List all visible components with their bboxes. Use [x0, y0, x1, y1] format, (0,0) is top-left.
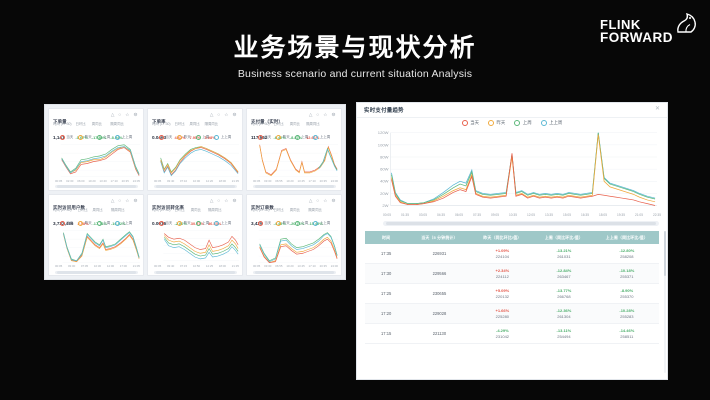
- detail-chart: 120W100W 80W60W 40W20W 2W: [365, 129, 659, 213]
- legend-dot-icon: [541, 120, 547, 126]
- table-row[interactable]: 17:35 226931 +1.09%224104 -13.21%261031 …: [365, 244, 659, 264]
- legend-item: 当天: [258, 221, 272, 226]
- legend-dot-icon: [214, 221, 219, 226]
- cell-yesterday: +1.09%224104: [472, 244, 534, 264]
- legend-item: 上上周: [313, 135, 330, 140]
- x-tick: 00:05: [55, 264, 62, 269]
- x-tick: 10:50: [193, 264, 200, 269]
- legend-label: 当天: [470, 120, 479, 126]
- table-row[interactable]: 17:20 229028 +1.66%225280 -12.36%261304 …: [365, 304, 659, 324]
- legend-dot-icon: [60, 221, 65, 226]
- kpi-metric-label: 日环比: [174, 122, 185, 126]
- legend-label: 上周: [202, 221, 209, 226]
- legend-dot-icon: [295, 221, 300, 226]
- logo-line-2: FORWARD: [600, 31, 673, 44]
- cell-today: 230655: [407, 284, 471, 304]
- x-tick: 06:05: [455, 213, 463, 219]
- kpi-metric: 隔周同比 36.53%: [208, 208, 222, 216]
- kpi-metric: 日环比 -2.86%: [174, 208, 186, 216]
- x-tick: 06:55: [275, 264, 282, 269]
- chart-scrollbar[interactable]: [154, 185, 237, 188]
- legend-label: 昨天: [283, 221, 290, 226]
- kpi-metric: 日环比 2.18%: [77, 208, 88, 216]
- legend-label: 上周: [103, 135, 110, 140]
- kpi-time-label: 时间 (17:30): [53, 122, 71, 126]
- card-x-axis: 00:05 03:30 06:55 10:20 13:45 17:10 20:3…: [253, 179, 338, 184]
- x-tick: 19:35: [617, 213, 625, 219]
- kpi-row: 时间 (17:30) 0.0463 日环比 4.62% 周同比 7.95% 隔周…: [152, 122, 238, 130]
- table-row[interactable]: 17:15 221130 -4.29%231042 -13.11%254494 …: [365, 324, 659, 344]
- card-header: 实时访问用户数 △ ○ ☆ ⚙: [53, 198, 139, 207]
- x-tick: 03:30: [264, 264, 271, 269]
- card-action-icons[interactable]: △ ○ ☆ ⚙: [210, 112, 238, 118]
- x-tick: 12:05: [527, 213, 535, 219]
- kpi-metric-label: 日环比: [77, 208, 88, 212]
- legend-item[interactable]: 上上周: [541, 120, 563, 126]
- legend-dot-icon: [258, 135, 263, 140]
- kpi-metric-label: 隔周同比: [208, 208, 222, 212]
- x-tick: 17:00: [120, 264, 127, 269]
- x-tick: 00:05: [253, 264, 260, 269]
- kpi-metric-label: 周同比: [290, 208, 305, 212]
- kpi-time-label: 时间 (17:30): [53, 208, 73, 212]
- cell-num: 261304: [535, 314, 593, 320]
- x-tick: 01:35: [401, 213, 409, 219]
- kpi-card-grid: 下单量 △ ○ ☆ ⚙ 时间 (17:30) 1,141 日环比 -0.67% …: [44, 104, 346, 280]
- legend-dot-icon: [313, 221, 318, 226]
- cell-num: 254494: [535, 334, 593, 340]
- legend-dot-icon: [97, 135, 102, 140]
- cell-yesterday: +1.66%225280: [472, 304, 534, 324]
- x-tick: 21:35: [232, 264, 239, 269]
- kpi-metric-label: 日环比: [75, 122, 87, 126]
- card-chart: [151, 141, 239, 179]
- col-today: 当天（5 分钟统计）: [407, 231, 471, 244]
- legend-item: 上周: [97, 221, 111, 226]
- x-tick: 21:05: [133, 264, 140, 269]
- card-header: 支付量（实时） △ ○ ☆ ⚙: [251, 112, 337, 121]
- card-legend: 当天 昨天 上周 上上周: [49, 134, 143, 141]
- card-header: 下单率 △ ○ ☆ ⚙: [152, 112, 238, 121]
- legend-label: 昨天: [184, 135, 191, 140]
- cell-time: 17:35: [365, 244, 407, 264]
- card-header: 实时访问转化率 △ ○ ☆ ⚙: [152, 198, 238, 207]
- x-tick: 13:35: [545, 213, 553, 219]
- x-tick: 00:05: [55, 179, 62, 184]
- kpi-card[interactable]: 实时订单数 △ ○ ☆ ⚙ 时间 (17:30) 3,429 日环比 -4.48…: [246, 194, 342, 277]
- col-lastweek: 上周（同比环比/值）: [533, 231, 595, 244]
- card-chart: [250, 227, 338, 265]
- legend-item: 上周: [97, 135, 111, 140]
- cell-num: 231042: [474, 334, 532, 340]
- kpi-metric-label: 日环比: [273, 122, 285, 126]
- x-tick: 17:10: [309, 179, 316, 184]
- card-x-axis: 00:05 03:30 06:55 10:20 13:45 17:10 20:3…: [253, 264, 338, 269]
- kpi-primary: 时间 (17:30) 0.0016: [152, 208, 170, 216]
- card-x-axis: 00:05 03:00 07:05 10:30 14:00 17:00 21:0…: [55, 264, 140, 269]
- cell-num: 258208: [597, 254, 657, 260]
- card-legend: 当天 昨天 上周 上上周: [148, 134, 242, 141]
- kpi-metric: 日环比 -0.67%: [75, 122, 87, 130]
- kpi-metric: 周同比 -17.80%: [92, 122, 107, 130]
- kpi-card[interactable]: 实时访问用户数 △ ○ ☆ ⚙ 时间 (17:30) 3,732,486 日环比…: [48, 194, 144, 277]
- kpi-metric-label: 周同比: [190, 122, 201, 126]
- legend-dot-icon: [462, 120, 468, 126]
- cell-time: 17:25: [365, 284, 407, 304]
- legend-label: 当天: [66, 135, 73, 140]
- cell-today: 229028: [407, 304, 471, 324]
- cell-num: 225280: [474, 314, 532, 320]
- card-chart: [52, 227, 140, 265]
- cell-num: 266768: [535, 294, 593, 300]
- kpi-metric-label: 隔周同比: [205, 122, 219, 126]
- legend-label: 当天: [264, 221, 271, 226]
- legend-label: 昨天: [184, 221, 191, 226]
- x-tick: 21:05: [635, 213, 643, 219]
- legend-dot-icon: [258, 221, 263, 226]
- legend-item: 上上周: [115, 135, 132, 140]
- card-legend: 当天 昨天 上周 上上周: [49, 220, 143, 227]
- x-tick: 07:15: [180, 264, 187, 269]
- kpi-card[interactable]: 实时访问转化率 △ ○ ☆ ⚙ 时间 (17:30) 0.0016 日环比 -2…: [147, 194, 243, 277]
- card-action-icons[interactable]: △ ○ ☆ ⚙: [309, 198, 337, 204]
- card-header: 下单量 △ ○ ☆ ⚙: [53, 112, 139, 121]
- squirrel-icon: [672, 12, 698, 36]
- cell-twoweeks: -14.46%258511: [595, 324, 659, 344]
- kpi-time-label: 时间 (17:30): [152, 122, 170, 126]
- x-tick: 24:05: [133, 179, 140, 184]
- legend-dot-icon: [196, 221, 201, 226]
- cell-today: 229566: [407, 264, 471, 284]
- x-tick: 00:05: [154, 264, 161, 269]
- legend-item: 昨天: [78, 221, 92, 226]
- cell-yesterday: -4.29%231042: [472, 324, 534, 344]
- x-tick: 03:40: [167, 264, 174, 269]
- cell-time: 17:20: [365, 304, 407, 324]
- legend-item[interactable]: 当天: [462, 120, 479, 126]
- cell-lastweek: -12.84%263467: [533, 264, 595, 284]
- kpi-primary: 时间 (17:30) 1,141: [53, 122, 71, 130]
- legend-label: 昨天: [85, 221, 92, 226]
- legend-label: 上上周: [320, 135, 331, 140]
- col-yesterday: 昨天（同比环比/值）: [472, 231, 534, 244]
- legend-item: 上周: [196, 135, 210, 140]
- cell-num: 261031: [535, 254, 593, 260]
- kpi-metric: 日环比 -6.42%: [273, 122, 285, 130]
- card-legend: 当天 昨天 上周 上上周: [247, 134, 341, 141]
- cell-num: 255283: [597, 314, 657, 320]
- detail-panel: 实时支付量趋势 ✕ 当天 昨天 上周 上上周 120W100W 80W60W 4: [356, 102, 668, 380]
- cell-twoweeks: -12.80%258208: [595, 244, 659, 264]
- legend-item: 当天: [60, 135, 74, 140]
- legend-dot-icon: [78, 221, 83, 226]
- legend-item: 当天: [258, 135, 272, 140]
- table-row[interactable]: 17:25 230655 +5.09%220132 -13.77%266768 …: [365, 284, 659, 304]
- legend-label: 当天: [165, 135, 172, 140]
- x-tick: 03:30: [264, 179, 271, 184]
- x-tick: 10:20: [286, 179, 293, 184]
- cell-num: 224112: [474, 274, 532, 280]
- x-tick: 00:05: [383, 213, 391, 219]
- legend-item: 昨天: [276, 135, 290, 140]
- kpi-primary: 时间 (17:30) 117,662: [251, 122, 269, 130]
- detail-chart-scrollbar[interactable]: [383, 221, 659, 226]
- x-tick: 20:35: [122, 179, 129, 184]
- legend-dot-icon: [276, 135, 281, 140]
- legend-label: 上周: [301, 135, 308, 140]
- cell-lastweek: -13.77%266768: [533, 284, 595, 304]
- cell-today: 226931: [407, 244, 471, 264]
- svg-text:20W: 20W: [380, 191, 389, 196]
- detail-table: 时间 当天（5 分钟统计） 昨天（同比环比/值） 上周（同比环比/值） 上上周（…: [365, 231, 659, 344]
- legend-label: 上上周: [122, 135, 133, 140]
- card-chart: [52, 141, 140, 179]
- svg-text:40W: 40W: [380, 179, 389, 184]
- cell-num: 258511: [597, 334, 657, 340]
- card-x-axis: 00:05 02:30 06:00 10:20 13:40 17:10 20:3…: [55, 179, 140, 184]
- cell-today: 221130: [407, 324, 471, 344]
- kpi-metric: 周同比 -20.76%: [290, 208, 305, 216]
- kpi-metric: 周同比 -8.87%: [290, 122, 302, 130]
- legend-dot-icon: [115, 221, 120, 226]
- legend-label: 当天: [66, 221, 73, 226]
- kpi-metric-label: 隔周同比: [110, 122, 124, 126]
- kpi-time-label: 时间 (17:30): [251, 208, 269, 212]
- card-chart: [151, 227, 239, 265]
- kpi-metric: 日环比 4.62%: [174, 122, 185, 130]
- cell-num: 255371: [597, 274, 657, 280]
- legend-label: 昨天: [85, 135, 92, 140]
- x-tick: 10:30: [94, 264, 101, 269]
- x-tick: 13:45: [297, 264, 304, 269]
- svg-text:120W: 120W: [378, 130, 389, 135]
- legend-dot-icon: [159, 221, 164, 226]
- kpi-metric-label: 周同比: [92, 208, 107, 212]
- x-tick: 10:20: [88, 179, 95, 184]
- table-row[interactable]: 17:30 229566 +2.34%224112 -12.84%263467 …: [365, 264, 659, 284]
- close-icon[interactable]: ✕: [655, 105, 660, 112]
- kpi-row: 时间 (17:30) 117,662 日环比 -6.42% 周同比 -8.87%…: [251, 122, 337, 130]
- legend-item: 当天: [159, 135, 173, 140]
- chart-scrollbar[interactable]: [55, 185, 138, 188]
- kpi-time-label: 时间 (17:30): [251, 122, 269, 126]
- card-legend: 当天 昨天 上周 上上周: [148, 220, 242, 227]
- x-tick: 07:05: [81, 264, 88, 269]
- cell-lastweek: -12.36%261304: [533, 304, 595, 324]
- kpi-metric-label: 周同比: [290, 122, 302, 126]
- legend-item: 昨天: [177, 221, 191, 226]
- legend-item: 昨天: [276, 221, 290, 226]
- card-action-icons[interactable]: △ ○ ☆ ⚙: [309, 112, 337, 118]
- legend-label: 上上周: [122, 221, 133, 226]
- card-legend: 当天 昨天 上周 上上周: [247, 220, 341, 227]
- legend-item: 上上周: [115, 221, 132, 226]
- col-twoweeks: 上上周（同比环比/值）: [595, 231, 659, 244]
- svg-text:80W: 80W: [380, 155, 389, 160]
- legend-label: 上周: [103, 221, 110, 226]
- chart-scrollbar[interactable]: [154, 271, 237, 274]
- x-tick: 14:25: [206, 264, 213, 269]
- kpi-row: 时间 (17:30) 3,732,486 日环比 2.18% 周同比 -17.7…: [53, 208, 139, 216]
- legend-item[interactable]: 上周: [514, 120, 531, 126]
- col-time: 时间: [365, 231, 407, 244]
- x-tick: 17:10: [309, 264, 316, 269]
- detail-x-axis: 00:05 01:35 03:05 04:35 06:05 07:35 09:0…: [383, 213, 661, 219]
- kpi-row: 时间 (17:30) 3,429 日环比 -4.48% 周同比 -20.76% …: [251, 208, 337, 216]
- legend-dot-icon: [214, 135, 219, 140]
- legend-dot-icon: [159, 135, 164, 140]
- x-tick: 18:00: [219, 264, 226, 269]
- kpi-time-label: 时间 (17:30): [152, 208, 170, 212]
- legend-label: 当天: [165, 221, 172, 226]
- cell-twoweeks: -10.18%255371: [595, 264, 659, 284]
- detail-title: 实时支付量趋势: [364, 106, 404, 114]
- cell-time: 17:30: [365, 264, 407, 284]
- cell-lastweek: -13.21%261031: [533, 244, 595, 264]
- cell-num: 255370: [597, 294, 657, 300]
- card-action-icons[interactable]: △ ○ ☆ ⚙: [111, 112, 139, 118]
- chart-scrollbar[interactable]: [253, 271, 336, 274]
- x-tick: 21:35: [232, 179, 239, 184]
- legend-dot-icon: [177, 135, 182, 140]
- legend-dot-icon: [177, 221, 182, 226]
- card-header: 实时订单数 △ ○ ☆ ⚙: [251, 198, 337, 207]
- x-tick: 16:35: [581, 213, 589, 219]
- cell-time: 17:15: [365, 324, 407, 344]
- x-tick: 10:00: [193, 179, 200, 184]
- legend-item[interactable]: 昨天: [488, 120, 505, 126]
- svg-text:100W: 100W: [378, 142, 389, 147]
- legend-label: 上上周: [221, 221, 232, 226]
- x-tick: 17:10: [111, 179, 118, 184]
- detail-table-wrap: 时间 当天（5 分钟统计） 昨天（同比环比/值） 上周（同比环比/值） 上上周（…: [365, 231, 659, 375]
- kpi-primary: 时间 (17:30) 3,429: [251, 208, 269, 216]
- kpi-metric: 周同比 -17.71%: [92, 208, 107, 216]
- dashboard-screenshot: 下单量 △ ○ ☆ ⚙ 时间 (17:30) 1,141 日环比 -0.67% …: [44, 102, 668, 384]
- legend-item: 昨天: [78, 135, 92, 140]
- legend-label: 上上周: [549, 120, 562, 126]
- cell-num: 220132: [474, 294, 532, 300]
- cell-twoweeks: -8.90%255370: [595, 284, 659, 304]
- x-tick: 13:40: [99, 179, 106, 184]
- legend-item: 上上周: [313, 221, 330, 226]
- legend-dot-icon: [196, 135, 201, 140]
- detail-legend: 当天 昨天 上周 上上周: [357, 118, 667, 127]
- kpi-metric: 隔周同比 5.98%: [205, 122, 219, 130]
- kpi-metric-label: 隔周同比: [306, 122, 320, 126]
- x-tick: 07:35: [473, 213, 481, 219]
- kpi-metric-label: 隔周同比: [308, 208, 323, 212]
- x-tick: 18:05: [599, 213, 607, 219]
- legend-label: 上周: [523, 120, 532, 126]
- x-tick: 04:35: [437, 213, 445, 219]
- legend-label: 当天: [264, 135, 271, 140]
- table-scrollbar[interactable]: [664, 231, 667, 373]
- legend-label: 上上周: [221, 135, 232, 140]
- cell-lastweek: -13.11%254494: [533, 324, 595, 344]
- cell-num: 224104: [474, 254, 532, 260]
- chart-scrollbar[interactable]: [55, 271, 138, 274]
- x-tick: 00:05: [253, 179, 260, 184]
- kpi-metric: 周同比 7.95%: [190, 122, 201, 130]
- legend-item: 上上周: [214, 135, 231, 140]
- x-tick: 18:00: [219, 179, 226, 184]
- x-tick: 14:20: [206, 179, 213, 184]
- kpi-metric: 隔周同比 12.61%: [306, 122, 320, 130]
- legend-dot-icon: [295, 135, 300, 140]
- card-chart: [250, 141, 338, 179]
- legend-dot-icon: [313, 135, 318, 140]
- x-tick: 20:35: [320, 264, 327, 269]
- x-tick: 10:20: [286, 264, 293, 269]
- kpi-metric: 周同比 30.37%: [191, 208, 204, 216]
- svg-text:60W: 60W: [380, 167, 389, 172]
- kpi-metric-label: 隔周同比: [111, 208, 126, 212]
- legend-label: 上周: [301, 221, 308, 226]
- kpi-primary: 时间 (17:30) 0.0463: [152, 122, 170, 130]
- legend-dot-icon: [115, 135, 120, 140]
- kpi-metric-label: 周同比: [191, 208, 204, 212]
- legend-dot-icon: [78, 135, 83, 140]
- kpi-metric: 日环比 -4.48%: [273, 208, 285, 216]
- cell-num: 263467: [535, 274, 593, 280]
- kpi-card[interactable]: 下单率 △ ○ ☆ ⚙ 时间 (17:30) 0.0463 日环比 4.62% …: [147, 108, 243, 191]
- kpi-metric: 隔周同比 -15.49%: [308, 208, 323, 216]
- kpi-card[interactable]: 支付量（实时） △ ○ ☆ ⚙ 时间 (17:30) 117,662 日环比 -…: [246, 108, 342, 191]
- x-tick: 14:00: [107, 264, 114, 269]
- kpi-metric-label: 日环比: [273, 208, 285, 212]
- flink-forward-logo: FLINK FORWARD: [600, 14, 696, 54]
- kpi-metric-label: 周同比: [92, 122, 107, 126]
- x-tick: 15:05: [563, 213, 571, 219]
- legend-item: 上周: [196, 221, 210, 226]
- kpi-row: 时间 (17:30) 1,141 日环比 -0.67% 周同比 -17.80% …: [53, 122, 139, 130]
- x-tick: 03:00: [68, 264, 75, 269]
- x-tick: 03:05: [419, 213, 427, 219]
- chart-scrollbar[interactable]: [253, 185, 336, 188]
- kpi-metric-label: 日环比: [174, 208, 186, 212]
- card-action-icons[interactable]: △ ○ ☆ ⚙: [210, 198, 238, 204]
- x-tick: 06:55: [275, 179, 282, 184]
- cell-yesterday: +5.09%220132: [472, 284, 534, 304]
- legend-label: 昨天: [497, 120, 506, 126]
- legend-item: 上上周: [214, 221, 231, 226]
- x-tick: 24:00: [331, 264, 338, 269]
- legend-item: 当天: [159, 221, 173, 226]
- card-x-axis: 00:05 03:40 07:15 10:50 14:25 18:00 21:3…: [154, 264, 239, 269]
- cell-twoweeks: -10.28%255283: [595, 304, 659, 324]
- x-tick: 02:30: [66, 179, 73, 184]
- svg-text:2W: 2W: [382, 203, 388, 208]
- x-tick: 00:05: [154, 179, 161, 184]
- legend-label: 昨天: [283, 135, 290, 140]
- kpi-primary: 时间 (17:30) 3,732,486: [53, 208, 73, 216]
- card-action-icons[interactable]: △ ○ ☆ ⚙: [111, 198, 139, 204]
- x-tick: 10:35: [509, 213, 517, 219]
- card-x-axis: 00:05 03:40 07:10 10:00 14:20 18:00 21:3…: [154, 179, 239, 184]
- kpi-metric: 隔周同比 -8.94%: [110, 122, 124, 130]
- table-header-row: 时间 当天（5 分钟统计） 昨天（同比环比/值） 上周（同比环比/值） 上上周（…: [365, 231, 659, 244]
- x-tick: 22:35: [653, 213, 661, 219]
- x-tick: 09:05: [491, 213, 499, 219]
- legend-dot-icon: [488, 120, 494, 126]
- legend-dot-icon: [276, 221, 281, 226]
- legend-item: 当天: [60, 221, 74, 226]
- kpi-card[interactable]: 下单量 △ ○ ☆ ⚙ 时间 (17:30) 1,141 日环比 -0.67% …: [48, 108, 144, 191]
- cell-yesterday: +2.34%224112: [472, 264, 534, 284]
- legend-label: 上上周: [320, 221, 331, 226]
- page-subtitle: Business scenario and current situation …: [0, 68, 710, 80]
